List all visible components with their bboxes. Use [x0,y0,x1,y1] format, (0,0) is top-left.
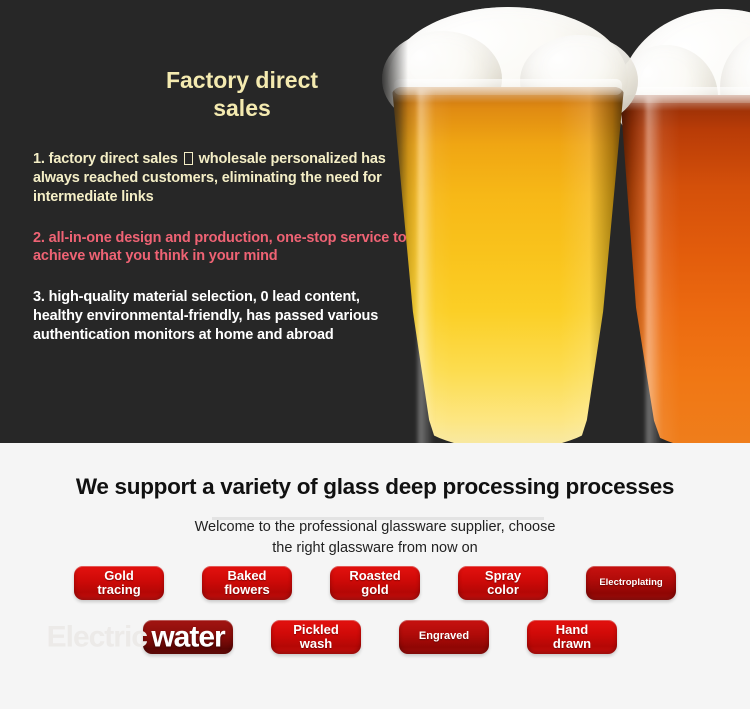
processes-panel: We support a variety of glass deep proce… [0,443,750,709]
promo-banner-page: Factory direct sales 1. factory direct s… [0,0,750,709]
panel-heading: We support a variety of glass deep proce… [0,474,750,500]
hero-bullet-3: 3. high-quality material selection, 0 le… [33,288,408,345]
panel-subtitle-line-2: the right glassware from now on [272,540,478,556]
process-pill-hand-drawn-label: Handdrawn [553,623,591,650]
process-pill-gold-tracing-label: Goldtracing [97,569,140,596]
hero-title-line-1: Factory direct [166,67,318,93]
panel-heading-underline [212,517,544,520]
missing-glyph-box-icon [184,152,193,165]
process-pill-rows: Goldtracing Bakedflowers Roastedgold Spr… [0,560,750,660]
beer-glass-right [620,9,750,443]
hero-title-line-2: sales [213,95,271,121]
process-pill-gold-tracing[interactable]: Goldtracing [74,566,164,600]
beer-glasses-photo [370,0,750,443]
process-pill-engraved[interactable]: Engraved [399,620,489,654]
process-pill-electroplating[interactable]: Electroplating [586,566,676,600]
process-pill-row-1: Goldtracing Bakedflowers Roastedgold Spr… [0,560,750,606]
process-pill-electric-water-label: water [151,621,224,653]
process-pill-row-2: Electric water Pickledwash Engraved Hand… [0,614,750,660]
process-pill-pickled-wash-label: Pickledwash [293,623,339,650]
hero-bullet-1: 1. factory direct sales wholesale person… [33,150,408,207]
process-pill-engraved-label: Engraved [419,631,469,643]
process-pill-roasted-gold-label: Roastedgold [349,569,400,596]
hero-section: Factory direct sales 1. factory direct s… [0,0,750,443]
process-pill-baked-flowers-label: Bakedflowers [224,569,270,596]
glass-rim-right [622,87,750,103]
beer-glass-left [392,1,624,443]
hero-bullet-1-text-before: 1. factory direct sales [33,151,182,167]
process-pill-roasted-gold[interactable]: Roastedgold [330,566,420,600]
process-pill-pickled-wash[interactable]: Pickledwash [271,620,361,654]
process-pill-spray-color[interactable]: Spraycolor [458,566,548,600]
hero-bullet-2: 2. all-in-one design and production, one… [33,229,408,267]
hero-bullet-list: 1. factory direct sales wholesale person… [33,150,408,367]
beer-liquid-right [620,95,750,443]
panel-subtitle: Welcome to the professional glassware su… [0,517,750,559]
glass-highlight-right [646,97,662,443]
process-pill-spray-color-label: Spraycolor [485,569,521,596]
hero-title: Factory direct sales [92,66,392,122]
process-pill-electric-water[interactable]: Electric water [143,620,233,654]
process-pill-electroplating-label: Electroplating [599,578,662,588]
process-pill-baked-flowers[interactable]: Bakedflowers [202,566,292,600]
panel-subtitle-line-1: Welcome to the professional glassware su… [195,519,556,535]
hero-text-block: Factory direct sales 1. factory direct s… [0,0,420,443]
panel-heading-text: We support a variety of glass deep proce… [76,474,674,499]
process-pill-electric-water-overflow-label: Electric [47,621,147,653]
glass-highlight-left [418,89,434,443]
process-pill-hand-drawn[interactable]: Handdrawn [527,620,617,654]
